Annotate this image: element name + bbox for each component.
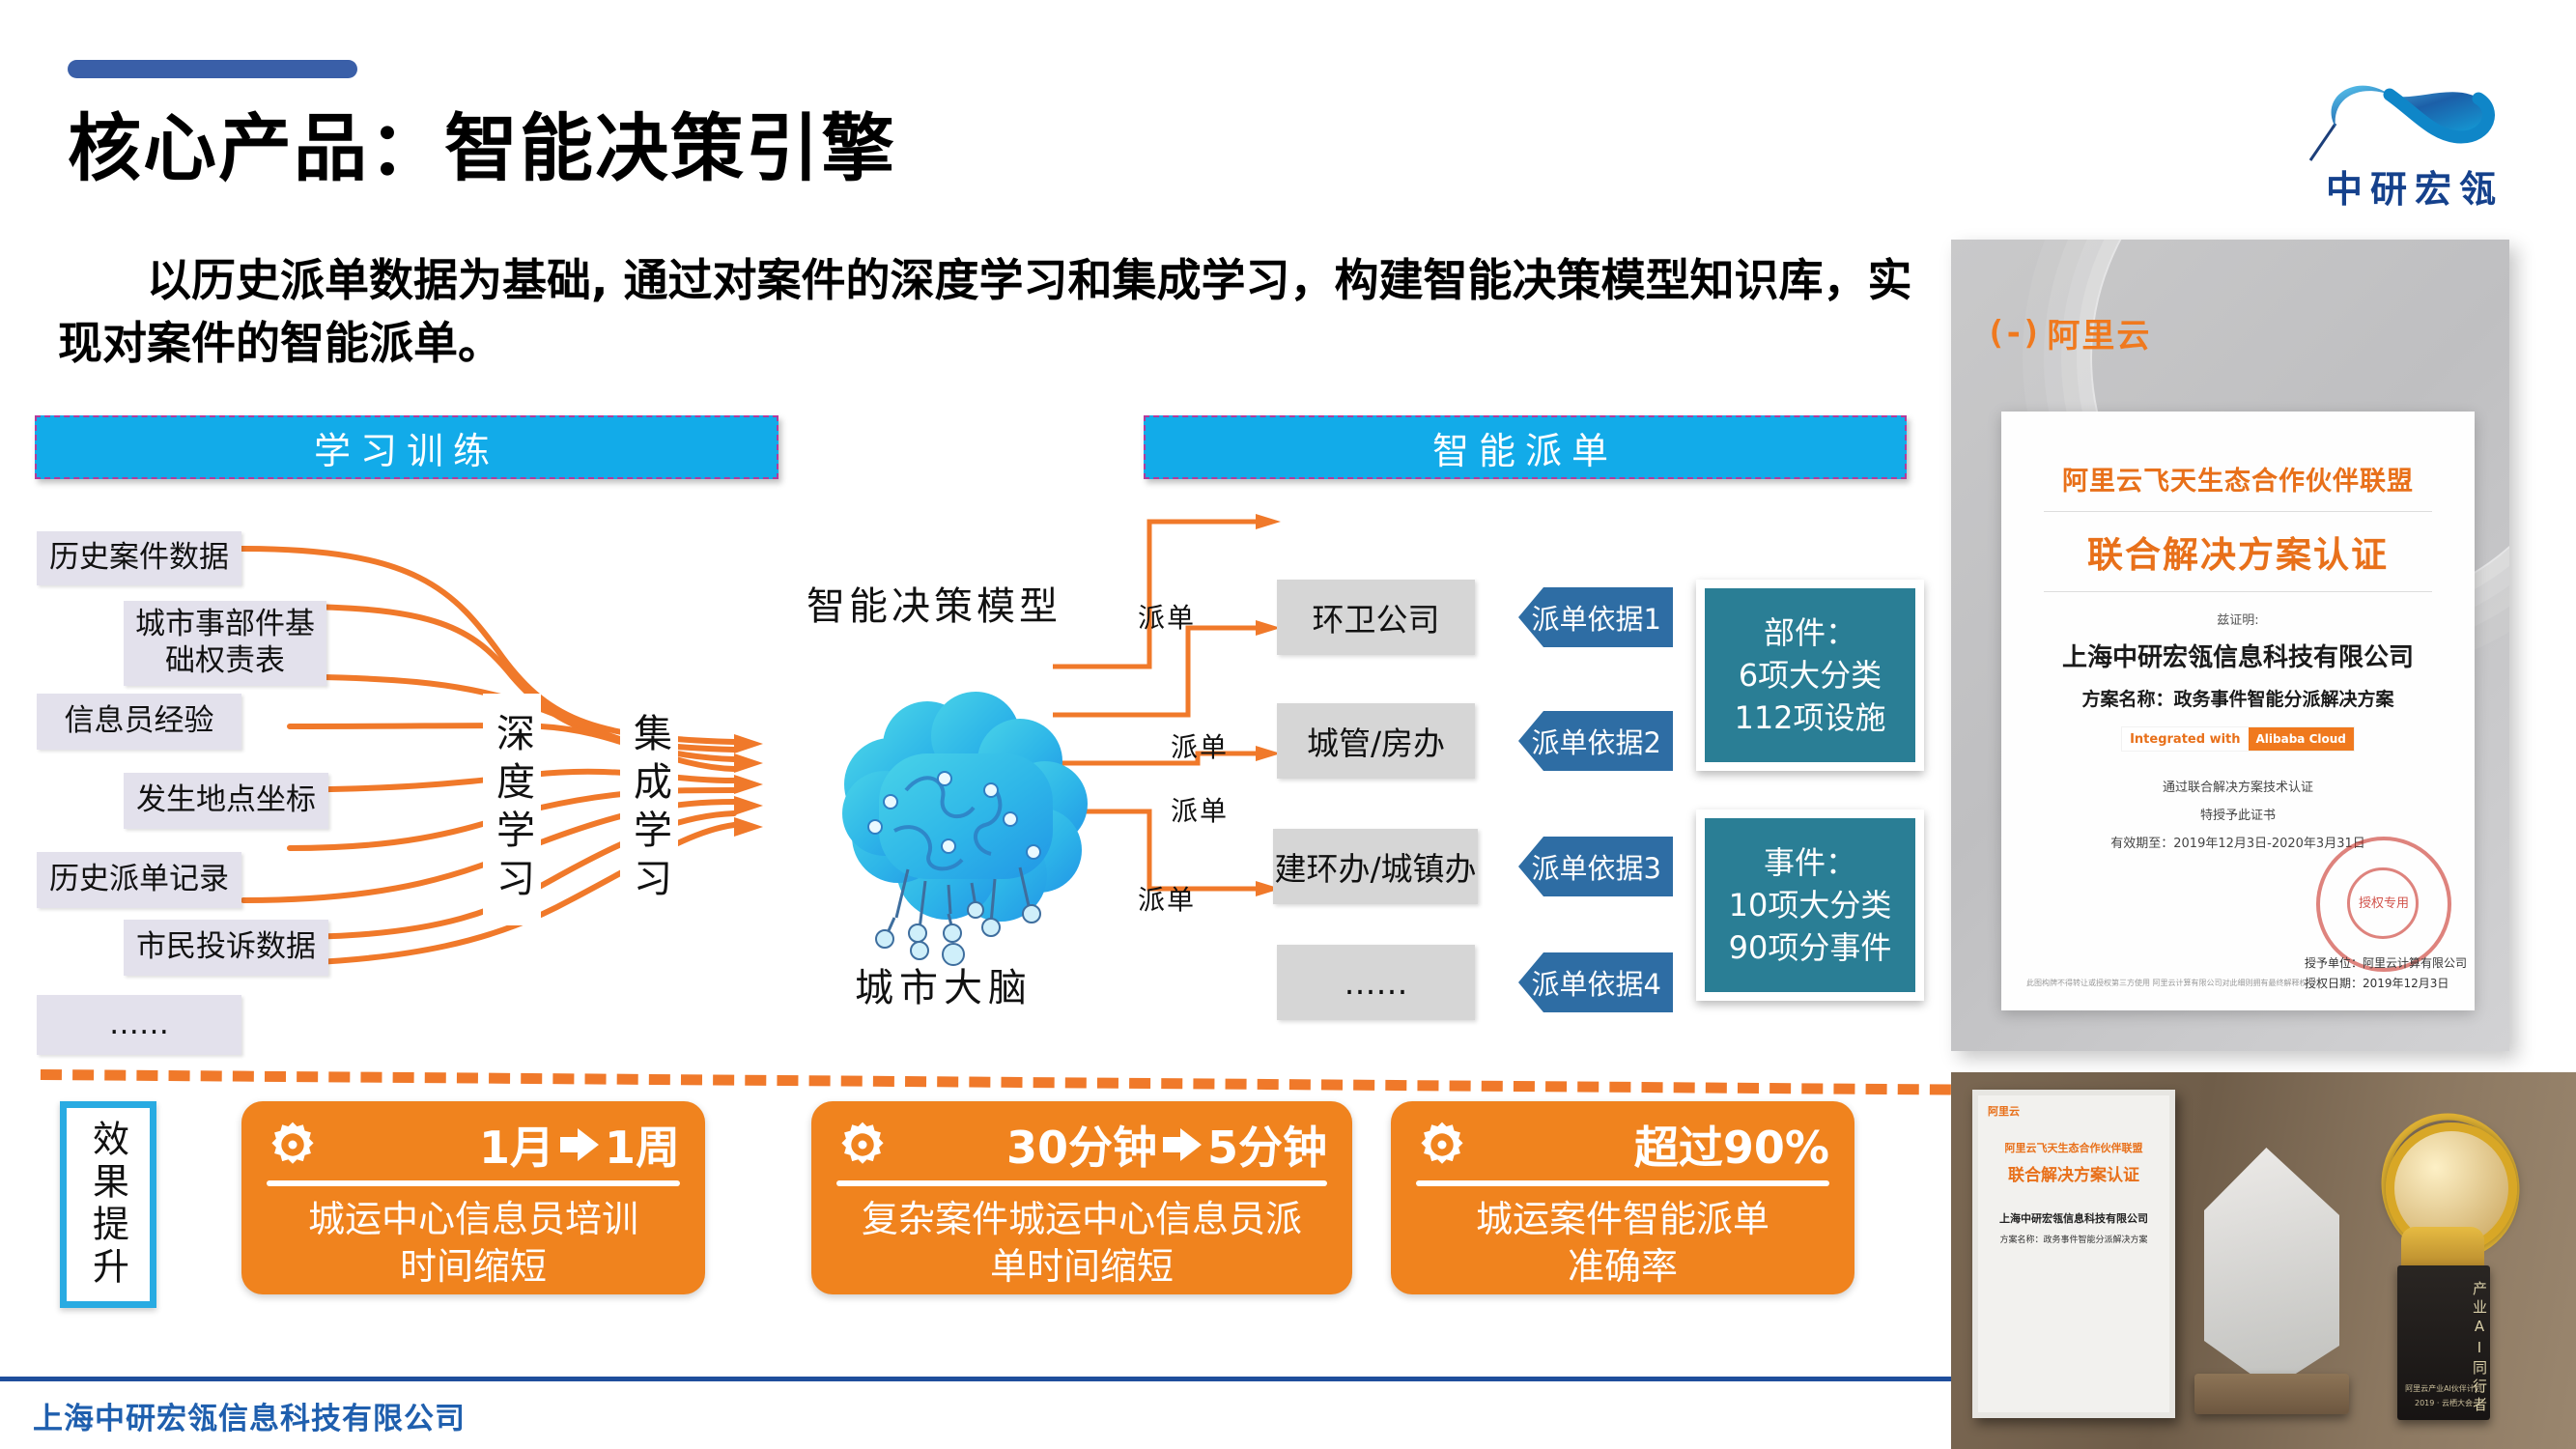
certificate-plan: 方案名称：政务事件智能分派解决方案 [2026, 685, 2449, 711]
dispatch-reason-chevron: 派单依据3 [1518, 837, 1673, 896]
stat-from: 1月 [479, 1113, 554, 1177]
input-chip: 历史案件数据 [37, 531, 241, 585]
certificate-heading-1: 阿里云飞天生态合作伙伴联盟 [2026, 460, 2449, 497]
certificate-paper: 阿里云飞天生态合作伙伴联盟 联合解决方案认证 兹证明: 上海中研宏瓴信息科技有限… [2001, 412, 2475, 1010]
integrated-left-text: Integrated with [2122, 727, 2248, 751]
stage-label-ensemble-learning: 集成学习 [620, 694, 678, 925]
info-box-line1: 6项大分类 [1739, 654, 1882, 696]
title-accent-bar [68, 60, 357, 78]
arrow-right-icon [560, 1128, 599, 1161]
dispatch-reason-chevron: 派单依据4 [1518, 952, 1673, 1012]
divider [2044, 591, 2432, 592]
effect-badge-label: 效果提升 [82, 1120, 135, 1290]
destination-box: 建环办/城镇办 [1273, 829, 1478, 904]
stat-value: 1月 1周 [479, 1113, 680, 1177]
awards-photo: 阿里云 阿里云飞天生态合作伙伴联盟 联合解决方案认证 上海中研宏瓴信息科技有限公… [1951, 1072, 2576, 1449]
crystal-trophy-base [2194, 1374, 2349, 1414]
photo-frame-brand: 阿里云 [1988, 1103, 2164, 1119]
info-box-line1: 10项大分类 [1729, 884, 1892, 926]
integrated-right-text: Alibaba Cloud [2249, 727, 2354, 751]
arrow-right-icon [1163, 1128, 1202, 1161]
company-logo: 中研宏瓴 [2279, 68, 2531, 213]
gear-icon [1416, 1119, 1468, 1171]
info-box-components: 部件： 6项大分类 112项设施 [1696, 580, 1924, 771]
stat-line1: 复杂案件城运中心信息员派 [836, 1196, 1327, 1243]
gear-icon [267, 1119, 319, 1171]
input-chip: 城市事部件基础权责表 [124, 601, 326, 686]
stat-line2: 准确率 [1416, 1243, 1829, 1291]
brain-title: 智能决策模型 [807, 575, 1062, 631]
trophy-subtext: 阿里云产业AI伙伴计划 2019 · 云栖大会 [2397, 1382, 2490, 1410]
photo-frame-plan: 方案名称：政务事件智能分派解决方案 [1984, 1233, 2164, 1245]
certificate-grant-unit: 授予单位：阿里云计算有限公司 [2305, 953, 2467, 973]
edge-label-dispatch: 派单 [1171, 790, 1229, 829]
input-chip: 市民投诉数据 [124, 920, 328, 976]
edge-label-dispatch: 派单 [1138, 597, 1196, 636]
footer-rule [0, 1377, 1951, 1381]
certificate-line-2: 特授予此证书 [2026, 805, 2449, 823]
destination-box: 城管/房办 [1277, 703, 1475, 779]
info-box-events: 事件： 10项大分类 90项分事件 [1696, 810, 1924, 1001]
section-header-training: 学习训练 [35, 415, 778, 479]
stat-line1: 城运中心信息员培训 [267, 1196, 680, 1243]
alibaba-cloud-logo: (-) 阿里云 [1986, 309, 2151, 356]
integrated-badge: Integrated with Alibaba Cloud [2121, 726, 2355, 752]
stat-from: 30分钟 [1006, 1113, 1157, 1177]
edge-label-dispatch: 派单 [1138, 879, 1196, 918]
input-chip: …… [37, 995, 241, 1055]
destination-box: 环卫公司 [1277, 580, 1475, 655]
info-box-title: 事件： [1764, 841, 1856, 884]
stamp-text: 授权专用 [2320, 893, 2448, 911]
certificate-image: (-) 阿里云 阿里云飞天生态合作伙伴联盟 联合解决方案认证 兹证明: 上海中研… [1951, 240, 2509, 1051]
footer-company: 上海中研宏瓴信息科技有限公司 [33, 1394, 466, 1437]
edge-label-dispatch: 派单 [1171, 726, 1229, 765]
section-header-dispatch: 智能派单 [1144, 415, 1907, 479]
info-box-line2: 112项设施 [1734, 696, 1885, 739]
dispatch-reason-chevron: 派单依据2 [1518, 711, 1673, 771]
alibaba-brand-text: 阿里云 [2047, 309, 2151, 356]
certificate-footer: 此图构牌不得转让或授权第三方使用 阿里云计算有限公司对此细则拥有最终解释权 [2026, 978, 2449, 989]
trophy-base: 产业AI同行者 阿里云产业AI伙伴计划 2019 · 云栖大会 [2397, 1265, 2490, 1420]
certificate-line-1: 通过联合解决方案技术认证 [2026, 777, 2449, 795]
gear-icon [836, 1119, 889, 1171]
certificate-company: 上海中研宏瓴信息科技有限公司 [2026, 638, 2449, 673]
stat-rule [267, 1180, 680, 1186]
certificate-prefix: 兹证明: [2026, 610, 2449, 628]
divider [2044, 511, 2432, 512]
certificate-heading-2: 联合解决方案认证 [2026, 526, 2449, 578]
input-chip: 发生地点坐标 [124, 773, 328, 829]
info-box-title: 部件： [1764, 611, 1856, 654]
section-divider [41, 1069, 1951, 1095]
stat-value: 30分钟 5分钟 [1006, 1113, 1327, 1177]
input-chip: 历史派单记录 [37, 852, 241, 908]
photo-frame-heading-1: 阿里云飞天生态合作伙伴联盟 [1984, 1140, 2164, 1155]
stat-rule [1416, 1180, 1829, 1186]
destination-box: …… [1277, 945, 1475, 1020]
official-stamp-icon: 授权专用 [2316, 837, 2451, 972]
stat-line1: 城运案件智能派单 [1416, 1196, 1829, 1243]
stat-line2: 时间缩短 [267, 1243, 680, 1291]
brain-icon [802, 676, 1120, 995]
media-column: (-) 阿里云 阿里云飞天生态合作伙伴联盟 联合解决方案认证 兹证明: 上海中研… [1951, 240, 2576, 1449]
input-chip: 信息员经验 [37, 694, 241, 750]
stat-rule [836, 1180, 1327, 1186]
certificate-disclaimer: 此图构牌不得转让或授权第三方使用 阿里云计算有限公司对此细则拥有最终解释权 [2026, 978, 2449, 989]
alibaba-bracket-icon: (-) [1986, 314, 2039, 353]
photo-frame-heading-2: 联合解决方案认证 [1984, 1161, 2164, 1185]
photo-frame-company: 上海中研宏瓴信息科技有限公司 [1984, 1210, 2164, 1226]
stat-to: 1周 [605, 1113, 680, 1177]
stat-card-accuracy: 超过90% 城运案件智能派单 准确率 [1391, 1101, 1854, 1294]
effect-badge: 效果提升 [60, 1101, 156, 1308]
infinity-ribbon-icon [2289, 68, 2521, 164]
logo-text: 中研宏瓴 [2326, 159, 2504, 213]
info-box-line2: 90项分事件 [1729, 926, 1892, 969]
stat-line2: 单时间缩短 [836, 1243, 1327, 1291]
stage-label-deep-learning: 深度学习 [483, 694, 541, 925]
intro-paragraph: 以历史派单数据为基础, 通过对案件的深度学习和集成学习，构建智能决策模型知识库，… [58, 249, 1922, 376]
stat-card-training-time: 1月 1周 城运中心信息员培训 时间缩短 [241, 1101, 705, 1294]
page-title: 核心产品：智能决策引擎 [68, 89, 896, 195]
stat-card-complex-case-time: 30分钟 5分钟 复杂案件城运中心信息员派 单时间缩短 [811, 1101, 1352, 1294]
framed-certificate: 阿里云 阿里云飞天生态合作伙伴联盟 联合解决方案认证 上海中研宏瓴信息科技有限公… [1972, 1090, 2175, 1418]
dispatch-reason-chevron: 派单依据1 [1518, 587, 1673, 647]
stat-value: 超过90% [1634, 1113, 1829, 1177]
brain-subtitle: 城市大脑 [855, 956, 1033, 1012]
stat-to: 5分钟 [1207, 1113, 1327, 1177]
